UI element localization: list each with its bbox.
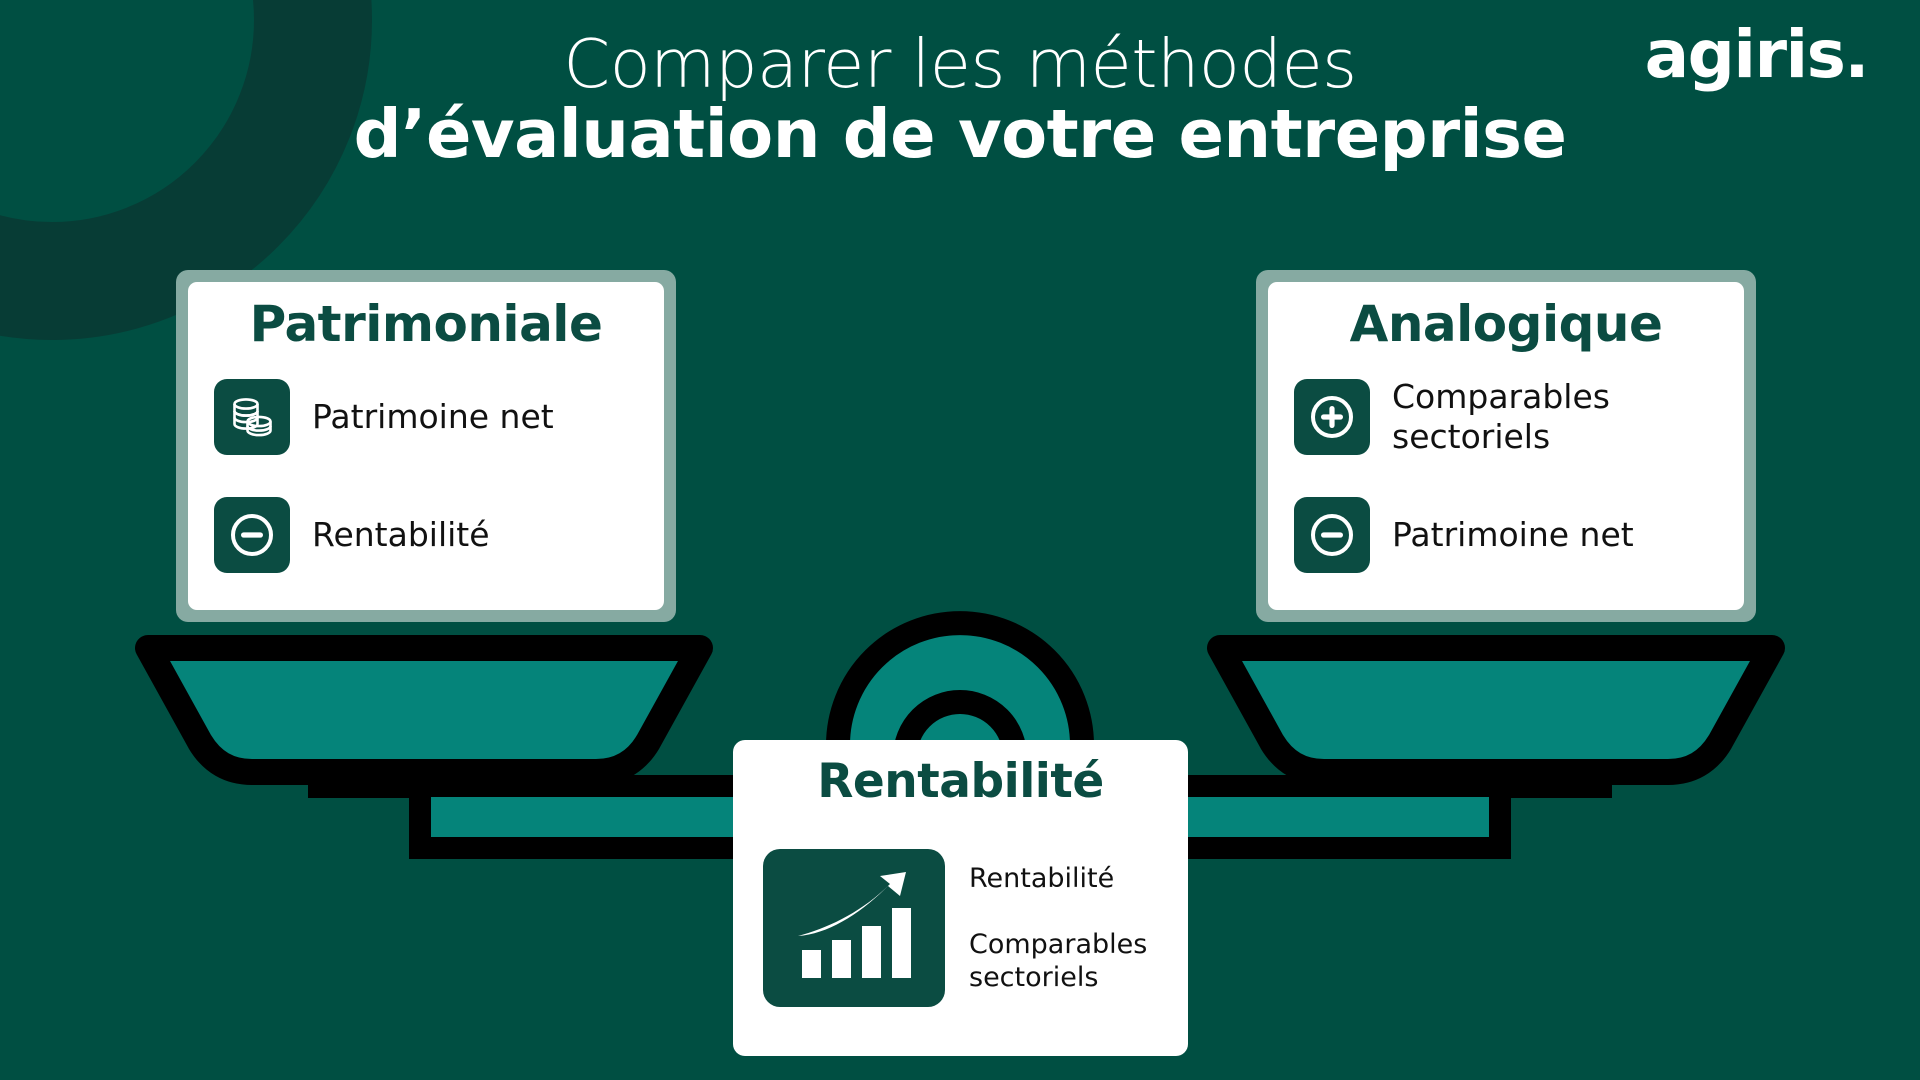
card-analogique-title: Analogique <box>1294 296 1718 352</box>
balance-right-pan <box>1220 648 1772 772</box>
card-rentabilite[interactable]: Rentabilité Rentabilité Comparables <box>733 740 1188 1056</box>
center-label-2-line-1: Comparables <box>969 929 1147 960</box>
plus-circle-icon <box>1294 379 1370 455</box>
list-item-label: Comparables sectoriels <box>1392 377 1610 458</box>
card-patrimoniale-inner: Patrimoniale <box>188 282 664 610</box>
list-item: Rentabilité <box>214 476 638 594</box>
infographic-canvas: Comparer les méthodes d’évaluation de vo… <box>0 0 1920 1080</box>
card-rentabilite-labels: Rentabilité Comparables sectoriels <box>969 863 1147 994</box>
list-item-label-line-1: Comparables <box>1392 377 1610 416</box>
center-label-2-line-2: sectoriels <box>969 962 1098 993</box>
list-item-label-line-2: sectoriels <box>1392 417 1550 456</box>
card-analogique[interactable]: Analogique Comparables sectoriels <box>1256 270 1756 622</box>
center-label-2: Comparables sectoriels <box>969 929 1147 994</box>
list-item: Comparables sectoriels <box>1294 358 1718 476</box>
growth-chart-icon <box>763 849 945 1007</box>
card-patrimoniale[interactable]: Patrimoniale <box>176 270 676 622</box>
card-analogique-inner: Analogique Comparables sectoriels <box>1268 282 1744 610</box>
list-item: Patrimoine net <box>1294 476 1718 594</box>
list-item-label: Rentabilité <box>312 515 490 555</box>
card-patrimoniale-title: Patrimoniale <box>214 296 638 352</box>
center-label-1: Rentabilité <box>969 863 1147 895</box>
minus-circle-icon <box>1294 497 1370 573</box>
list-item-label: Patrimoine net <box>312 397 554 437</box>
card-rentabilite-content: Rentabilité Comparables sectoriels <box>763 819 1158 1038</box>
list-item: Patrimoine net <box>214 358 638 476</box>
balance-left-pan <box>148 648 700 772</box>
coins-stack-icon <box>214 379 290 455</box>
card-rentabilite-title: Rentabilité <box>763 756 1158 809</box>
list-item-label: Patrimoine net <box>1392 515 1634 555</box>
minus-circle-icon <box>214 497 290 573</box>
